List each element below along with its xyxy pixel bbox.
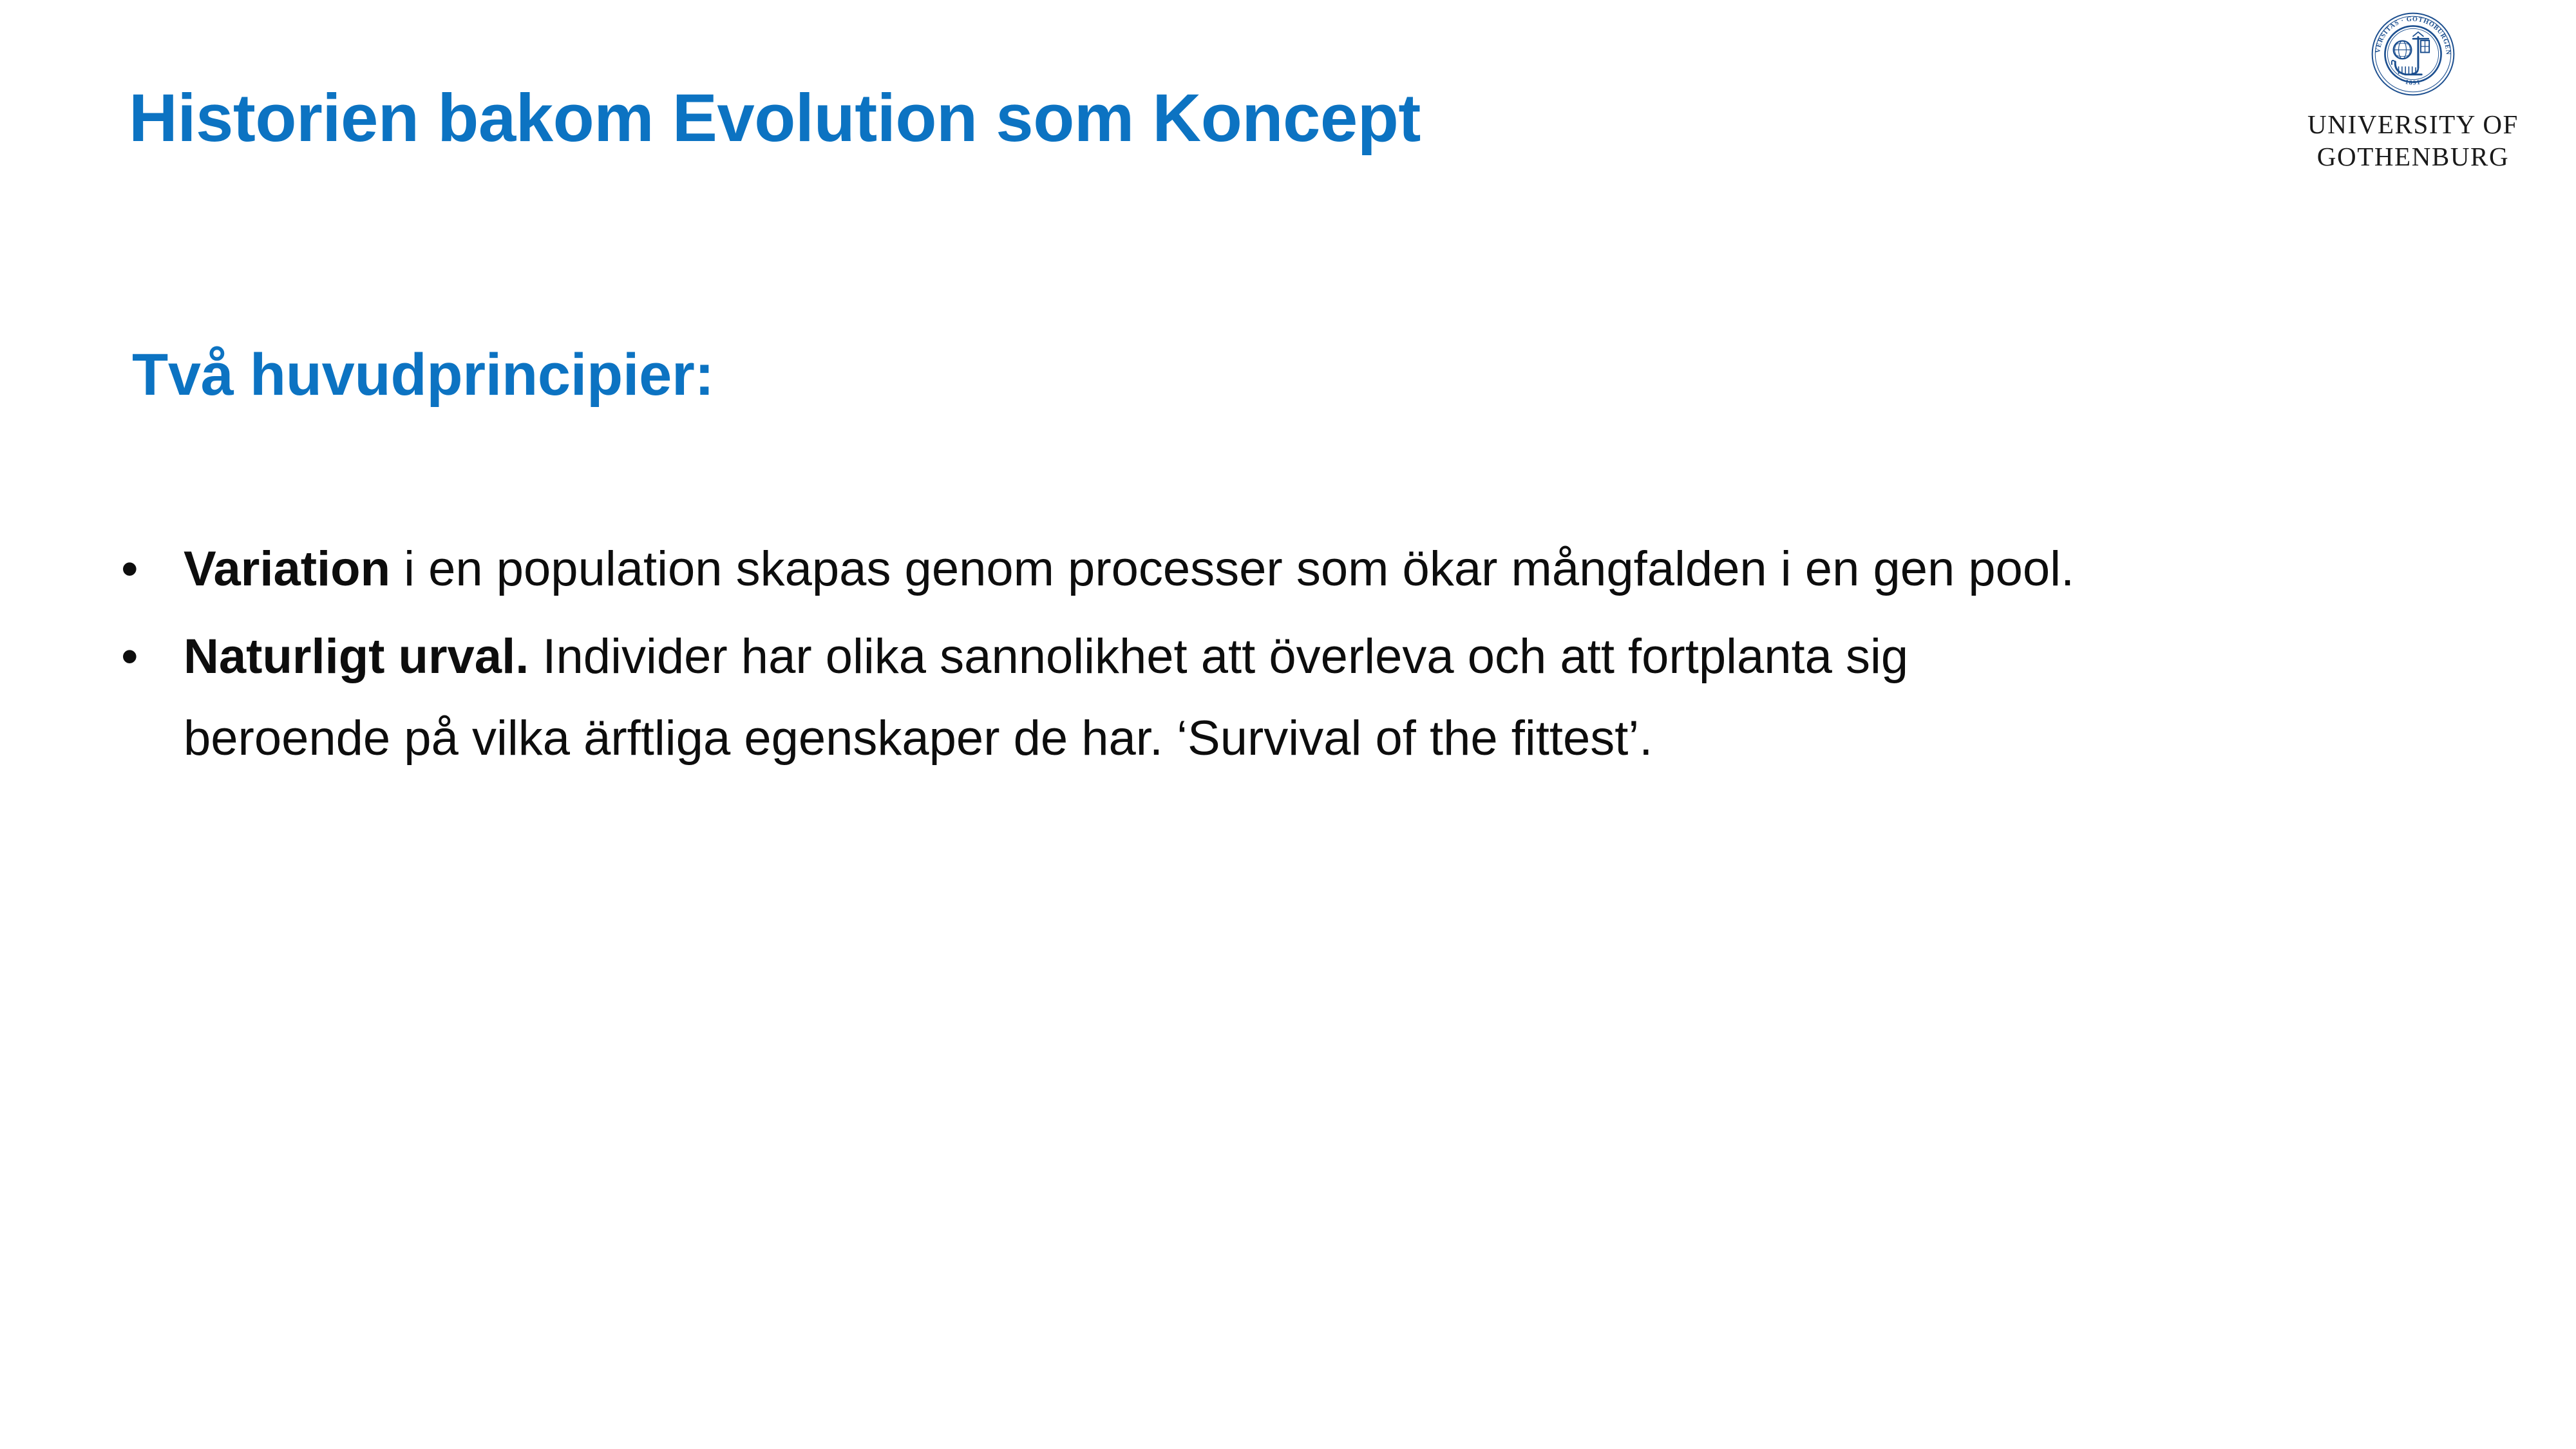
university-logo: UNIVERSITAS · GOTHOBURGENSIS · 1891 · <box>2307 12 2519 173</box>
list-item: •Naturligt urval. Individer har olika sa… <box>97 616 2093 780</box>
section-heading: Två huvudprincipier: <box>132 341 714 410</box>
svg-text:· 1891 ·: · 1891 · <box>2399 77 2427 86</box>
bullet-list: •Variation i en population skapas genom … <box>97 528 2093 785</box>
wordmark-line-1: UNIVERSITY OF <box>2307 108 2519 140</box>
list-item: •Variation i en population skapas genom … <box>97 528 2093 611</box>
bullet-lead-term: Variation <box>184 542 390 596</box>
wordmark-line-2: GOTHENBURG <box>2307 140 2519 173</box>
page-title: Historien bakom Evolution som Koncept <box>129 80 2061 156</box>
bullet-point-icon: • <box>121 616 138 698</box>
bullet-lead-term: Naturligt urval. <box>184 629 529 684</box>
bullet-point-icon: • <box>121 528 138 611</box>
slide-canvas: Historien bakom Evolution som Koncept Tv… <box>0 0 2576 1449</box>
university-seal-icon: UNIVERSITAS · GOTHOBURGENSIS · 1891 · <box>2371 12 2456 97</box>
bullet-body-text: i en population skapas genom processer s… <box>390 542 2074 596</box>
